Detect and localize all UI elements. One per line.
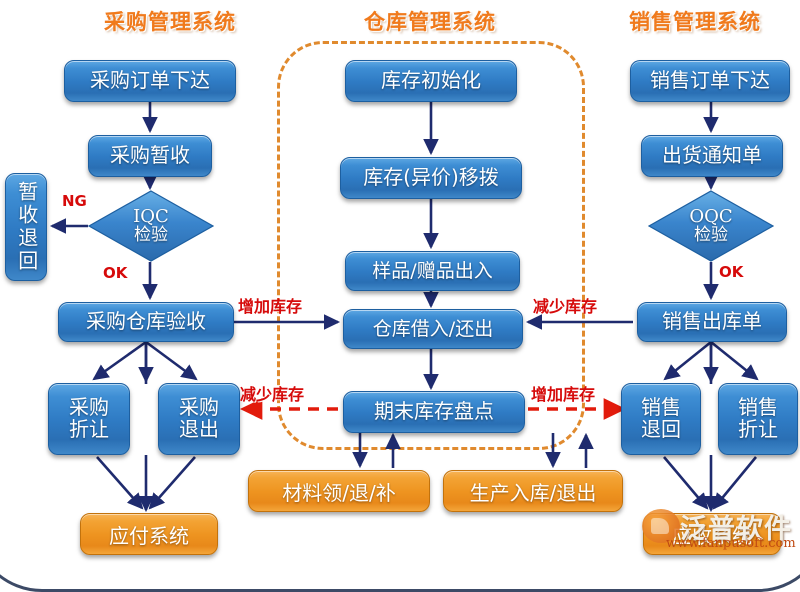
- node-ship-notice[interactable]: 出货通知单: [641, 135, 783, 177]
- node-po-release[interactable]: 采购订单下达: [64, 60, 236, 102]
- node-sales-return[interactable]: 销售 退回: [621, 383, 701, 455]
- flowchart-canvas: 采购管理系统 仓库管理系统 销售管理系统 采购订单下达 采购暂收 暂收退回 IQ…: [0, 0, 800, 566]
- node-ar-system[interactable]: 应收系统: [643, 513, 781, 555]
- node-temp-return[interactable]: 暂收退回: [5, 173, 47, 281]
- column-title-sales: 销售管理系统: [595, 6, 795, 36]
- node-po-discount[interactable]: 采购 折让: [48, 383, 130, 455]
- node-sales-return-line2: 退回: [641, 419, 681, 441]
- node-oqc-decision[interactable]: OQC 检验: [648, 190, 774, 262]
- node-inv-init[interactable]: 库存初始化: [345, 60, 517, 102]
- node-po-return-out-line2: 退出: [179, 419, 219, 441]
- edge-label-increase-stock-right: 增加库存: [531, 381, 595, 405]
- edge-label-ng: NG: [62, 192, 87, 210]
- node-sample-gift[interactable]: 样品/赠品出入: [345, 251, 520, 291]
- edge-label-decrease-stock-left: 减少库存: [240, 381, 304, 405]
- node-mat-issue[interactable]: 材料领/退/补: [248, 470, 430, 512]
- node-so-release[interactable]: 销售订单下达: [630, 60, 790, 102]
- node-sales-discount[interactable]: 销售 折让: [718, 383, 798, 455]
- node-sales-return-line1: 销售: [641, 397, 681, 419]
- node-po-discount-line2: 折让: [69, 419, 109, 441]
- node-po-temp-recv[interactable]: 采购暂收: [88, 135, 212, 177]
- column-title-purchasing: 采购管理系统: [60, 6, 280, 36]
- edge-label-increase-stock-left: 增加库存: [238, 293, 302, 317]
- node-inv-transfer[interactable]: 库存(异价)移拨: [340, 157, 522, 199]
- edge-label-decrease-stock-right: 减少库存: [533, 293, 597, 317]
- node-po-discount-line1: 采购: [69, 397, 109, 419]
- node-po-return-out-line1: 采购: [179, 397, 219, 419]
- node-so-outbound[interactable]: 销售出库单: [637, 302, 787, 342]
- node-po-return-out[interactable]: 采购 退出: [158, 383, 240, 455]
- node-sales-discount-line1: 销售: [738, 397, 778, 419]
- edge-label-ok-purchasing: OK: [103, 264, 127, 282]
- node-iqc-decision[interactable]: IQC 检验: [88, 190, 214, 262]
- node-period-count[interactable]: 期末库存盘点: [343, 391, 525, 433]
- column-title-warehouse: 仓库管理系统: [320, 6, 540, 36]
- edge-label-ok-sales: OK: [719, 263, 743, 281]
- node-prod-receipt[interactable]: 生产入库/退出: [443, 470, 623, 512]
- node-ap-system[interactable]: 应付系统: [80, 513, 218, 555]
- node-po-wh-accept[interactable]: 采购仓库验收: [58, 302, 234, 342]
- node-sales-discount-line2: 折让: [738, 419, 778, 441]
- node-wh-borrow[interactable]: 仓库借入/还出: [343, 309, 523, 349]
